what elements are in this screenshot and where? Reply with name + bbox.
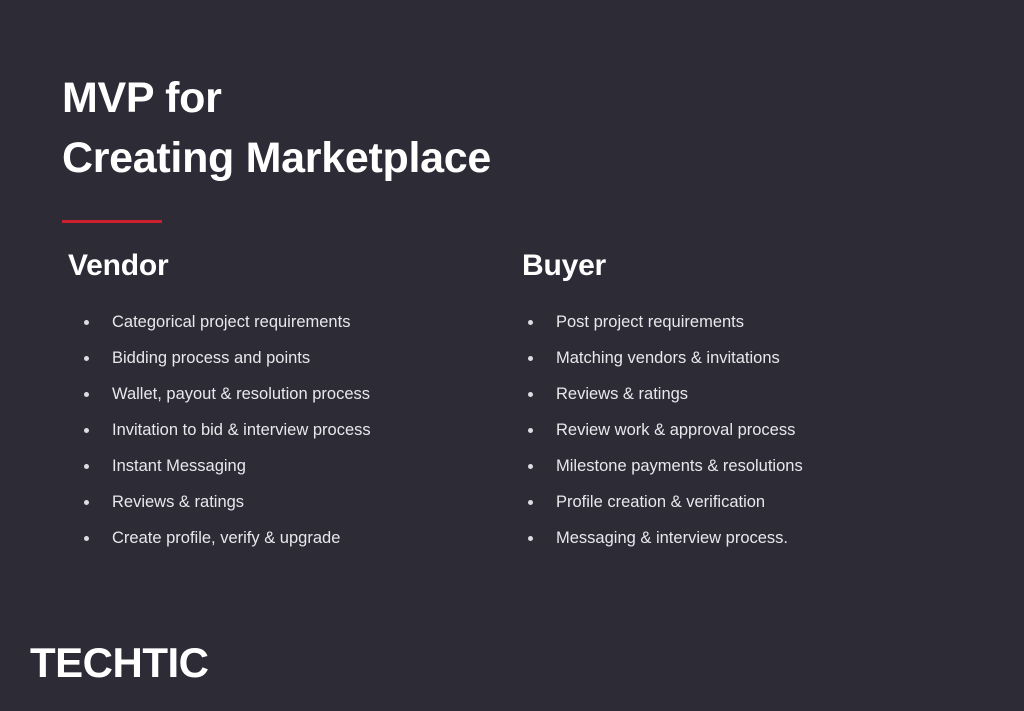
bullet-dot-icon [528, 464, 533, 469]
brand-logo: TECHTIC [30, 640, 209, 686]
list-item-label: Invitation to bid & interview process [112, 421, 371, 439]
list-item: Review work & approval process [522, 412, 992, 448]
bullet-dot-icon [528, 320, 533, 325]
column-heading-vendor: Vendor [68, 248, 508, 284]
columns-container: Vendor Categorical project requirements … [0, 248, 1024, 568]
list-item: Reviews & ratings [68, 484, 508, 520]
list-item: Matching vendors & invitations [522, 340, 992, 376]
list-item-label: Post project requirements [556, 313, 744, 331]
bullet-dot-icon [528, 536, 533, 541]
bullet-dot-icon [528, 428, 533, 433]
red-accent-rule [62, 220, 162, 223]
list-item: Reviews & ratings [522, 376, 992, 412]
list-item-label: Create profile, verify & upgrade [112, 529, 340, 547]
list-item-label: Instant Messaging [112, 457, 246, 475]
list-item-label: Wallet, payout & resolution process [112, 385, 370, 403]
bullet-dot-icon [84, 392, 89, 397]
slide-title: MVP for Creating Marketplace [62, 68, 762, 188]
list-item: Wallet, payout & resolution process [68, 376, 508, 412]
column-buyer: Buyer Post project requirements Matching… [522, 248, 992, 556]
title-line-2: Creating Marketplace [62, 128, 762, 188]
list-item: Post project requirements [522, 304, 992, 340]
title-line-1: MVP for [62, 68, 762, 128]
bullet-dot-icon [84, 428, 89, 433]
bullet-dot-icon [84, 500, 89, 505]
list-item: Categorical project requirements [68, 304, 508, 340]
bullet-dot-icon [528, 392, 533, 397]
bullet-dot-icon [84, 464, 89, 469]
list-item-label: Reviews & ratings [112, 493, 244, 511]
list-item: Create profile, verify & upgrade [68, 520, 508, 556]
list-item: Milestone payments & resolutions [522, 448, 992, 484]
list-item-label: Matching vendors & invitations [556, 349, 780, 367]
bullet-list-buyer: Post project requirements Matching vendo… [522, 304, 992, 556]
list-item-label: Messaging & interview process. [556, 529, 788, 547]
list-item-label: Review work & approval process [556, 421, 795, 439]
list-item: Messaging & interview process. [522, 520, 992, 556]
bullet-dot-icon [84, 320, 89, 325]
bullet-dot-icon [84, 536, 89, 541]
bullet-dot-icon [528, 356, 533, 361]
presentation-slide: MVP for Creating Marketplace Vendor Cate… [0, 0, 1024, 711]
bullet-list-vendor: Categorical project requirements Bidding… [68, 304, 508, 556]
list-item-label: Reviews & ratings [556, 385, 688, 403]
column-heading-buyer: Buyer [522, 248, 992, 284]
column-vendor: Vendor Categorical project requirements … [68, 248, 508, 556]
bullet-dot-icon [84, 356, 89, 361]
list-item: Profile creation & verification [522, 484, 992, 520]
bullet-dot-icon [528, 500, 533, 505]
list-item: Bidding process and points [68, 340, 508, 376]
list-item: Invitation to bid & interview process [68, 412, 508, 448]
list-item-label: Profile creation & verification [556, 493, 765, 511]
list-item-label: Categorical project requirements [112, 313, 350, 331]
list-item: Instant Messaging [68, 448, 508, 484]
list-item-label: Milestone payments & resolutions [556, 457, 803, 475]
list-item-label: Bidding process and points [112, 349, 310, 367]
